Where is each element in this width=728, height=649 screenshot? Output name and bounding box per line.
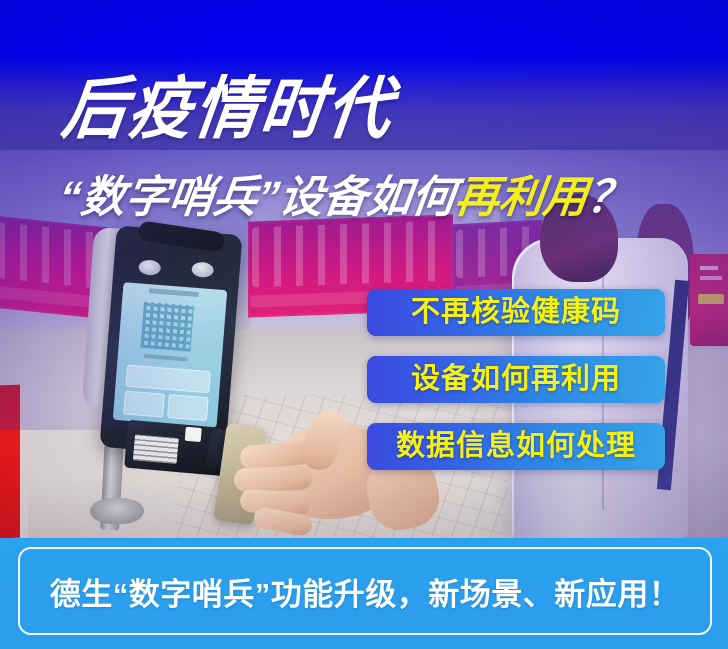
subtitle-suffix: ？ [584,173,634,222]
poster-root: 后疫情时代 “数字哨兵”设备如何再利用？ 不再核验健康码 设备如何再利用 数据信… [0,0,728,649]
topic-pill-2[interactable]: 设备如何再利用 [367,356,665,403]
subtitle-highlight: 再利用 [452,173,590,222]
topic-pill-1-label: 不再核验健康码 [411,298,621,327]
banner-text: 德生“数字哨兵”功能升级，新场景、新应用！ [50,569,681,614]
bottom-banner: 德生“数字哨兵”功能升级，新场景、新应用！ [0,538,728,649]
banner-frame: 德生“数字哨兵”功能升级，新场景、新应用！ [18,547,712,635]
topic-pill-3-label: 数据信息如何处理 [396,432,636,461]
page-subtitle: “数字哨兵”设备如何再利用？ [56,172,634,224]
topic-pill-3[interactable]: 数据信息如何处理 [367,423,665,470]
subtitle-prefix: “数字哨兵”设备如何 [56,173,458,222]
page-title: 后疫情时代 [58,70,398,148]
topic-pill-2-label: 设备如何再利用 [411,365,621,394]
topic-pill-1[interactable]: 不再核验健康码 [367,289,665,336]
topic-pill-list: 不再核验健康码 设备如何再利用 数据信息如何处理 [367,289,665,470]
